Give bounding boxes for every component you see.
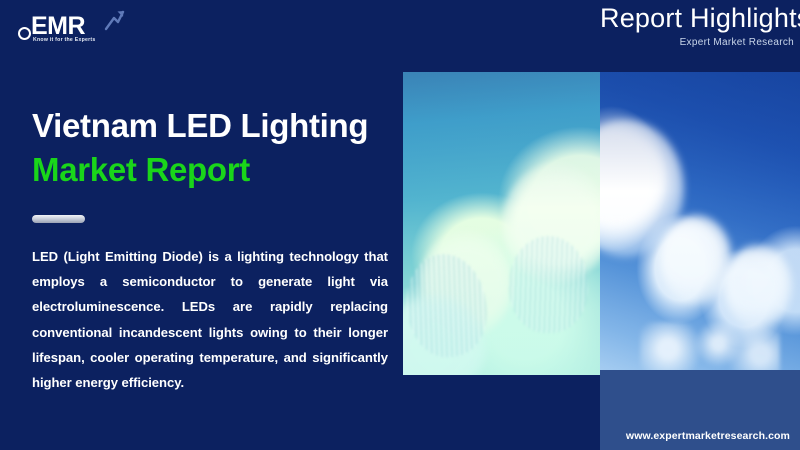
header-right-block: Report Highlights Expert Market Research — [600, 0, 800, 72]
circle-icon — [18, 27, 31, 40]
main-content: Vietnam LED Lighting Market Report LED (… — [32, 104, 392, 395]
photo-haze-overlay — [403, 72, 600, 375]
website-url[interactable]: www.expertmarketresearch.com — [600, 430, 800, 442]
led-bulbs-teal-photo — [403, 72, 600, 375]
led-bulbs-blue-photo — [600, 72, 800, 370]
logo-wordmark: EMR — [31, 14, 85, 39]
photo-haze-overlay-right — [600, 72, 800, 370]
header-subtitle: Expert Market Research — [600, 34, 794, 48]
report-highlights-title: Report Highlights — [600, 0, 794, 34]
emr-logo[interactable]: EMR Know it for the Experts — [18, 9, 193, 47]
description-paragraph: LED (Light Emitting Diode) is a lighting… — [32, 244, 388, 396]
page-title-line-2: Market Report — [32, 148, 392, 192]
page-title-line-1: Vietnam LED Lighting — [32, 104, 392, 148]
report-highlights-banner: EMR Know it for the Experts Report Highl… — [0, 0, 800, 450]
growth-arrow-icon — [103, 9, 125, 31]
title-divider — [32, 215, 85, 223]
logo-tagline: Know it for the Experts — [33, 37, 96, 43]
page-title: Vietnam LED Lighting Market Report — [32, 104, 392, 192]
